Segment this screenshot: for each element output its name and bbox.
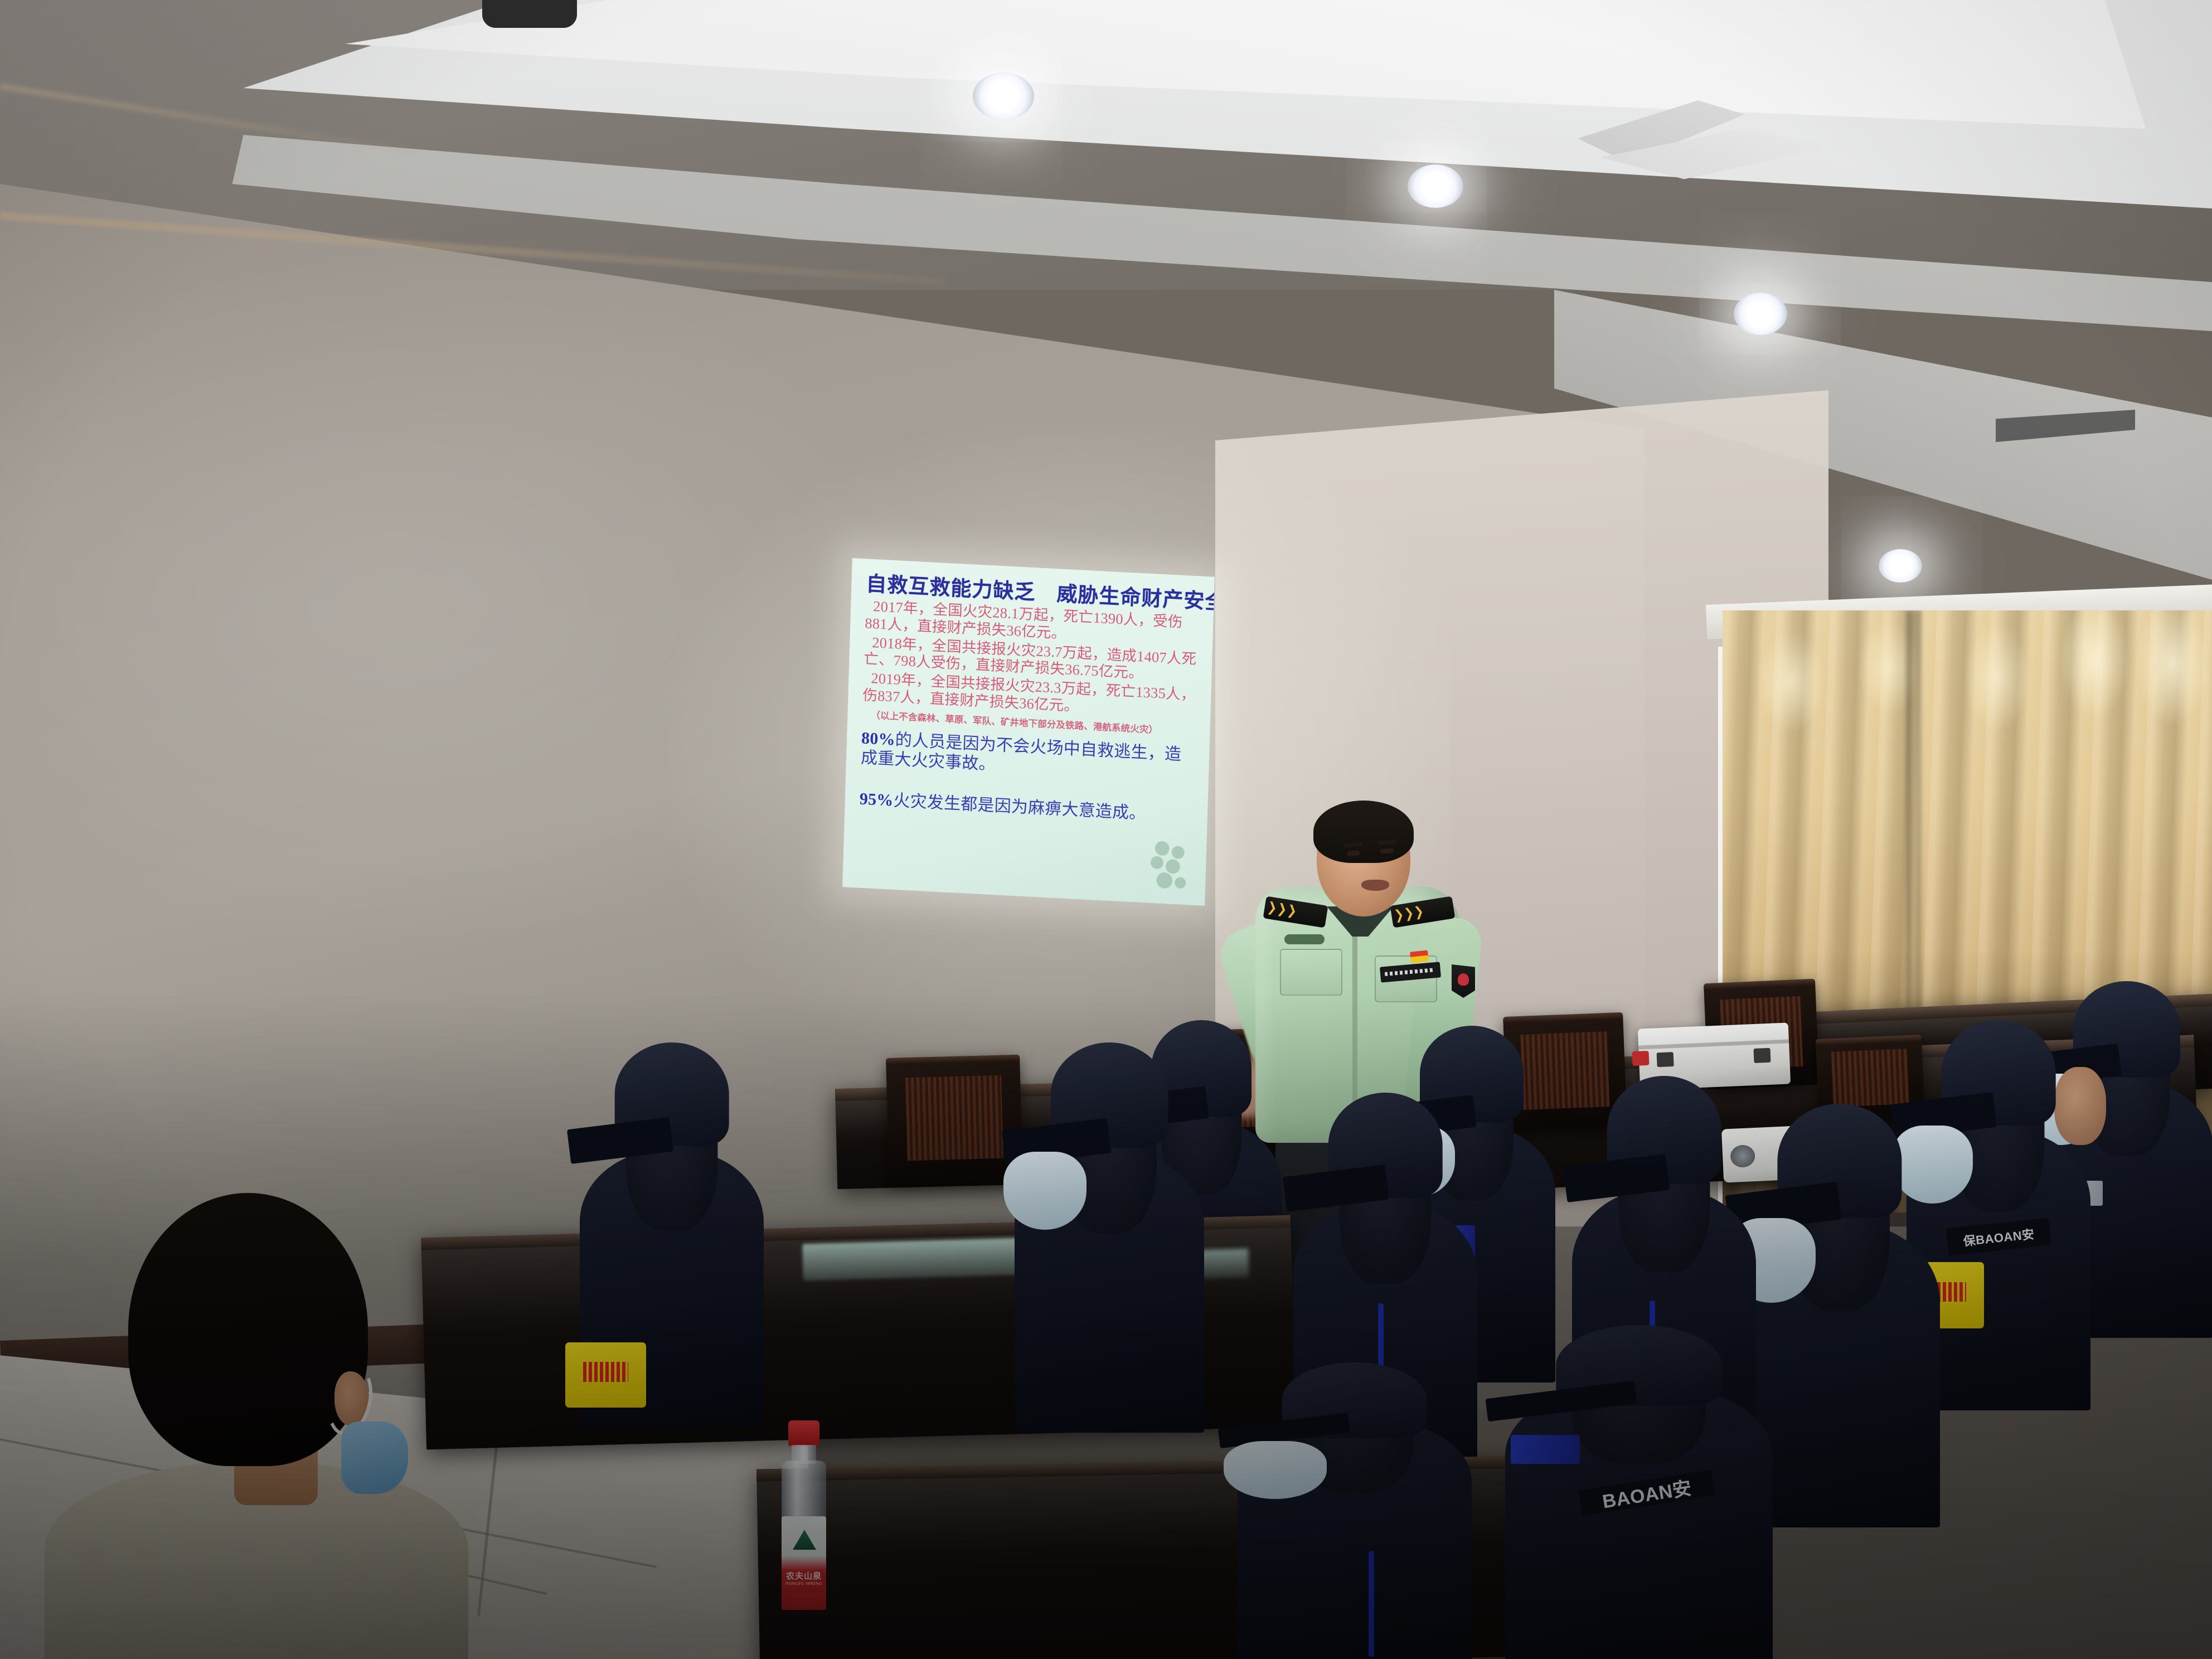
mountain-logo-icon [793, 1530, 816, 1550]
bottle-cap[interactable] [788, 1420, 819, 1446]
presenter-hair [1313, 801, 1414, 863]
slide-watermark-logo-icon [1145, 838, 1195, 896]
wall-clock [482, 0, 577, 28]
audience-guard-foreground: BAOAN安 [1505, 1338, 1773, 1659]
presenter-eye [1347, 850, 1361, 856]
presenter-chest-pocket [1280, 949, 1342, 996]
bottle-brand-latin: NONGFU SPRING [782, 1582, 826, 1586]
presenter-eye [1380, 848, 1394, 854]
case-latch-icon[interactable] [1753, 1048, 1770, 1063]
ceiling-downlight [1734, 293, 1787, 335]
presenter-mouth-speaking [1361, 880, 1389, 891]
projected-slide: 自救互救能力缺乏 威胁生命财产安全 2017年，全国火灾28.1万起，死亡139… [842, 558, 1215, 906]
audience-guard [1015, 1042, 1204, 1433]
slide-point-95: 95%火灾发生都是因为麻痹大意造成。 [859, 789, 1195, 826]
presenter-wing-insignia-icon [1284, 934, 1325, 944]
case-tag-icon [1632, 1051, 1650, 1066]
water-bottle[interactable]: 农夫山泉 NONGFU SPRING [779, 1420, 828, 1610]
slide-point-95-text: 火灾发生都是因为麻痹大意造成。 [893, 791, 1146, 823]
bottle-label: 农夫山泉 NONGFU SPRING [782, 1516, 826, 1610]
foreground-attendee [67, 1160, 446, 1659]
presenter-flag-pin-icon [1410, 950, 1429, 963]
face-mask [341, 1422, 408, 1494]
lecture-room-photo: 自救互救能力缺乏 威胁生命财产安全 2017年，全国火灾28.1万起，死亡139… [0, 0, 2212, 1659]
curtain-highlights [1723, 610, 2212, 833]
case-latch-icon[interactable] [1657, 1052, 1674, 1067]
slide-point-95-highlight: 95% [859, 789, 894, 809]
bottle-brand-cn: 农夫山泉 [786, 1572, 822, 1581]
slide-point-80: 80%的人员是因为不会火场中自救逃生，造成重大火灾事故。 [861, 729, 1197, 785]
bottle-brand-name: 农夫山泉 NONGFU SPRING [782, 1570, 826, 1586]
audience-guard [580, 1042, 764, 1427]
slide-point-80-text: 的人员是因为不会火场中自救逃生，造成重大火灾事故。 [861, 731, 1182, 774]
ceiling-downlight [1408, 164, 1463, 208]
audience-guard-foreground [1238, 1371, 1472, 1659]
slide-point-80-highlight: 80% [861, 729, 896, 749]
ceiling-downlight [973, 72, 1034, 120]
ceiling-downlight [1879, 549, 1922, 583]
slide-statistics-list: 2017年，全国火灾28.1万起，死亡1390人，受伤881人，直接财产损失36… [862, 598, 1201, 721]
chair[interactable] [886, 1055, 1023, 1183]
